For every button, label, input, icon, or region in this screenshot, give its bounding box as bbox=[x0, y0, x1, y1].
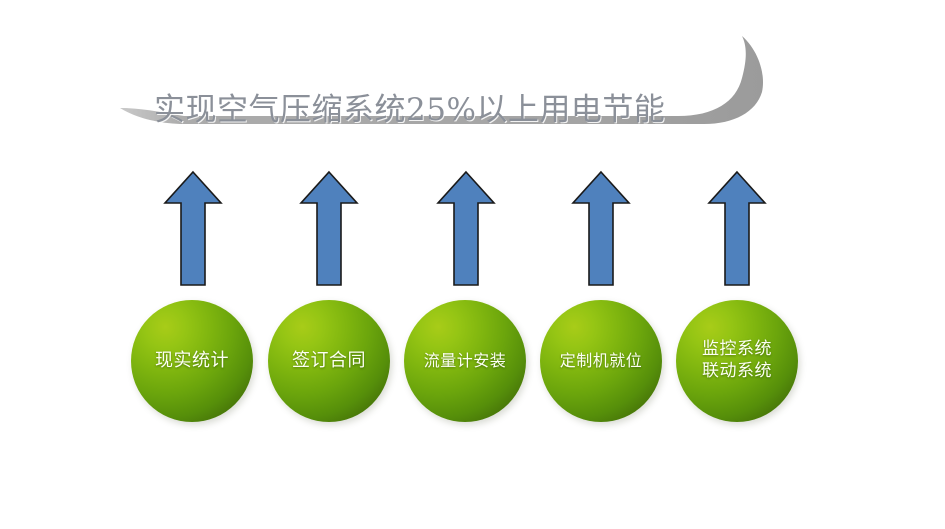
up-arrow-icon-4 bbox=[571, 170, 631, 288]
step-label-1: 现实统计 bbox=[151, 350, 233, 372]
step-label-2: 签订合同 bbox=[288, 350, 370, 372]
step-label-5: 监控系统 联动系统 bbox=[698, 339, 776, 383]
step-label-4: 定制机就位 bbox=[556, 351, 647, 371]
step-sphere-2[interactable]: 签订合同 bbox=[268, 300, 390, 422]
step-sphere-5[interactable]: 监控系统 联动系统 bbox=[676, 300, 798, 422]
slide-canvas: 实现空气压缩系统25%以上用电节能 现实统计 签订合同 流量计安装 定制机就位 … bbox=[0, 0, 945, 529]
title-banner: 实现空气压缩系统25%以上用电节能 bbox=[118, 34, 778, 139]
up-arrow-icon-3 bbox=[436, 170, 496, 288]
up-arrow-icon-5 bbox=[707, 170, 767, 288]
step-sphere-4[interactable]: 定制机就位 bbox=[540, 300, 662, 422]
step-sphere-3[interactable]: 流量计安装 bbox=[404, 300, 526, 422]
up-arrow-icon-1 bbox=[163, 170, 223, 288]
up-arrow-icon-2 bbox=[299, 170, 359, 288]
step-sphere-1[interactable]: 现实统计 bbox=[131, 300, 253, 422]
page-title: 实现空气压缩系统25%以上用电节能 bbox=[154, 78, 754, 134]
step-label-3: 流量计安装 bbox=[420, 351, 511, 371]
